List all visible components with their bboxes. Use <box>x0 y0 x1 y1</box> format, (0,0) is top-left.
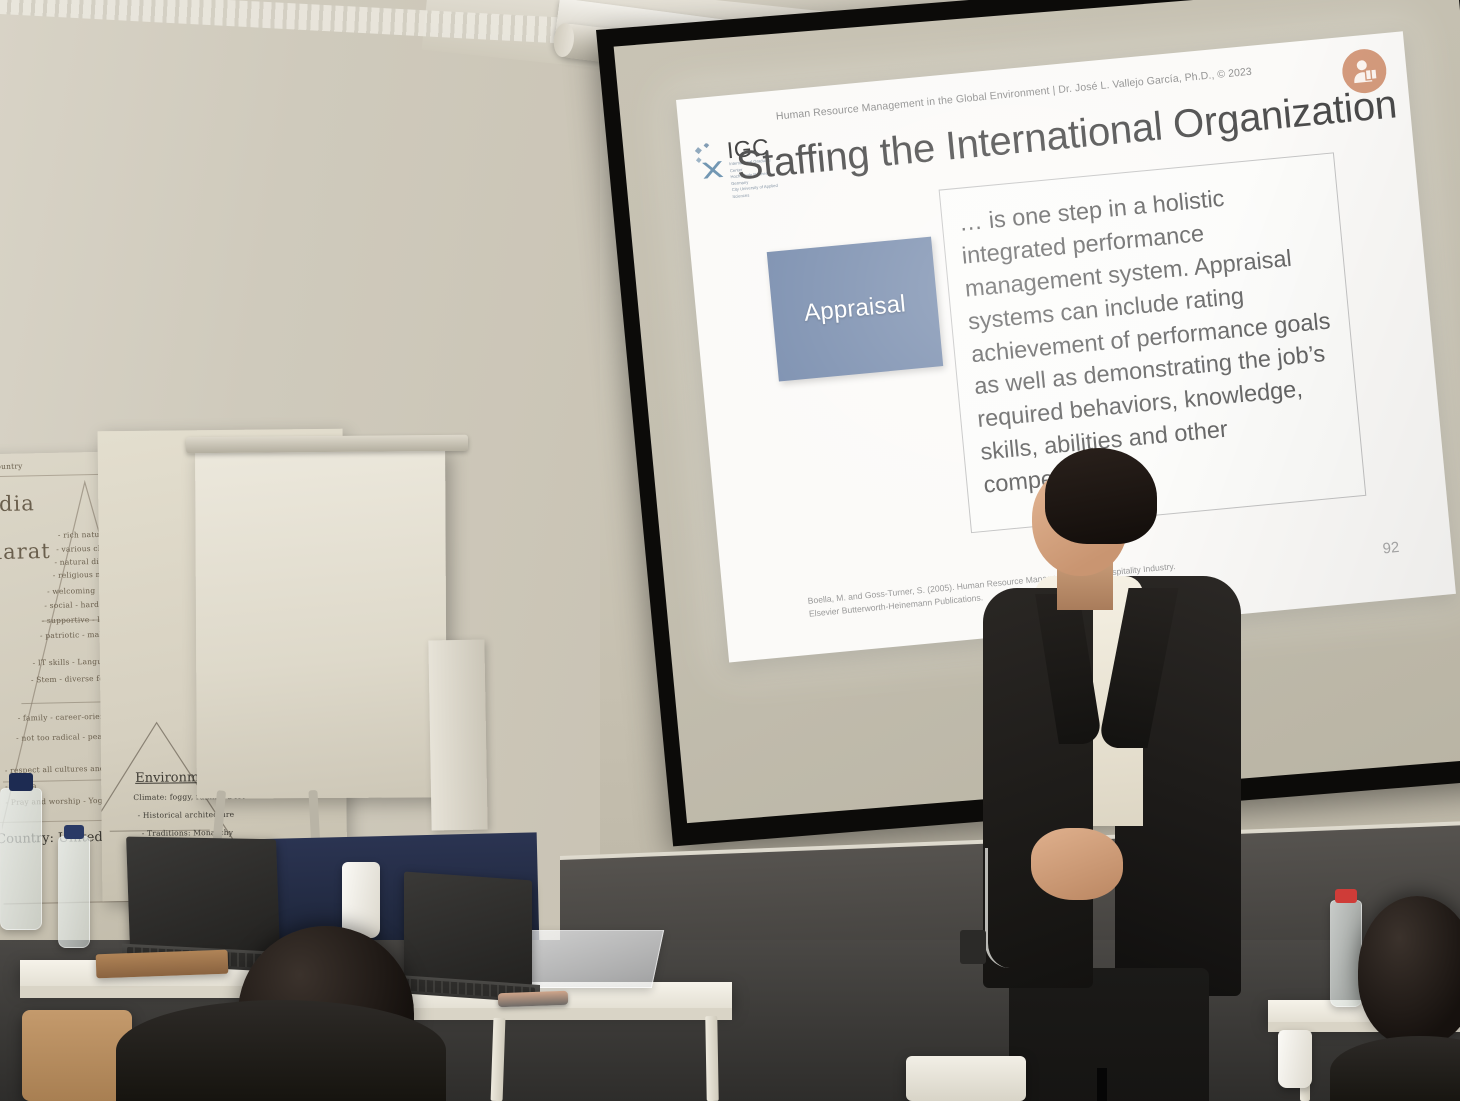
whiteboard-edge <box>428 640 487 831</box>
desk-center-edge <box>396 1008 732 1020</box>
acrylic-divider-center <box>514 930 664 988</box>
wall-cable <box>985 848 1010 968</box>
appraisal-box-label: Appraisal <box>803 290 907 327</box>
water-bottle-left-small <box>58 836 90 948</box>
igc-logo-mark <box>694 142 727 181</box>
bottle-cap-blue-large <box>9 773 33 791</box>
presenter-leg-split <box>1097 1068 1107 1101</box>
bottle-cap-red <box>1335 889 1357 903</box>
chair-white-center <box>906 1056 1026 1101</box>
water-bottle-right <box>1330 900 1362 1007</box>
water-bottle-left-large <box>0 788 42 930</box>
laptop-left-screen <box>126 837 280 952</box>
tumbler-right <box>1278 1030 1312 1088</box>
notebook-on-desk <box>96 950 229 979</box>
slide-page-number: 92 <box>1382 539 1400 557</box>
desk-center-leg-2 <box>705 1016 718 1101</box>
flipchart-easel-bar <box>186 435 468 453</box>
student-shoulders-left <box>116 1000 446 1101</box>
flipchart-heading-left: Country <box>0 462 23 472</box>
smartphone-on-desk <box>498 991 568 1007</box>
presenter <box>985 448 1255 1101</box>
appraisal-box: Appraisal <box>767 237 944 382</box>
bottle-cap-blue-small <box>64 825 84 839</box>
presenter-hair <box>1045 448 1157 544</box>
presenter-hands <box>1031 828 1123 900</box>
student-head-right <box>1358 896 1460 1046</box>
classroom-photo-scene: Human Resource Management in the Global … <box>0 0 1460 1101</box>
flipchart-sheet-front <box>195 447 447 798</box>
wall-socket <box>960 930 986 964</box>
tumbler-left <box>342 862 380 938</box>
laptop-center-screen <box>404 872 532 987</box>
person-with-book-glyph <box>1348 55 1381 88</box>
